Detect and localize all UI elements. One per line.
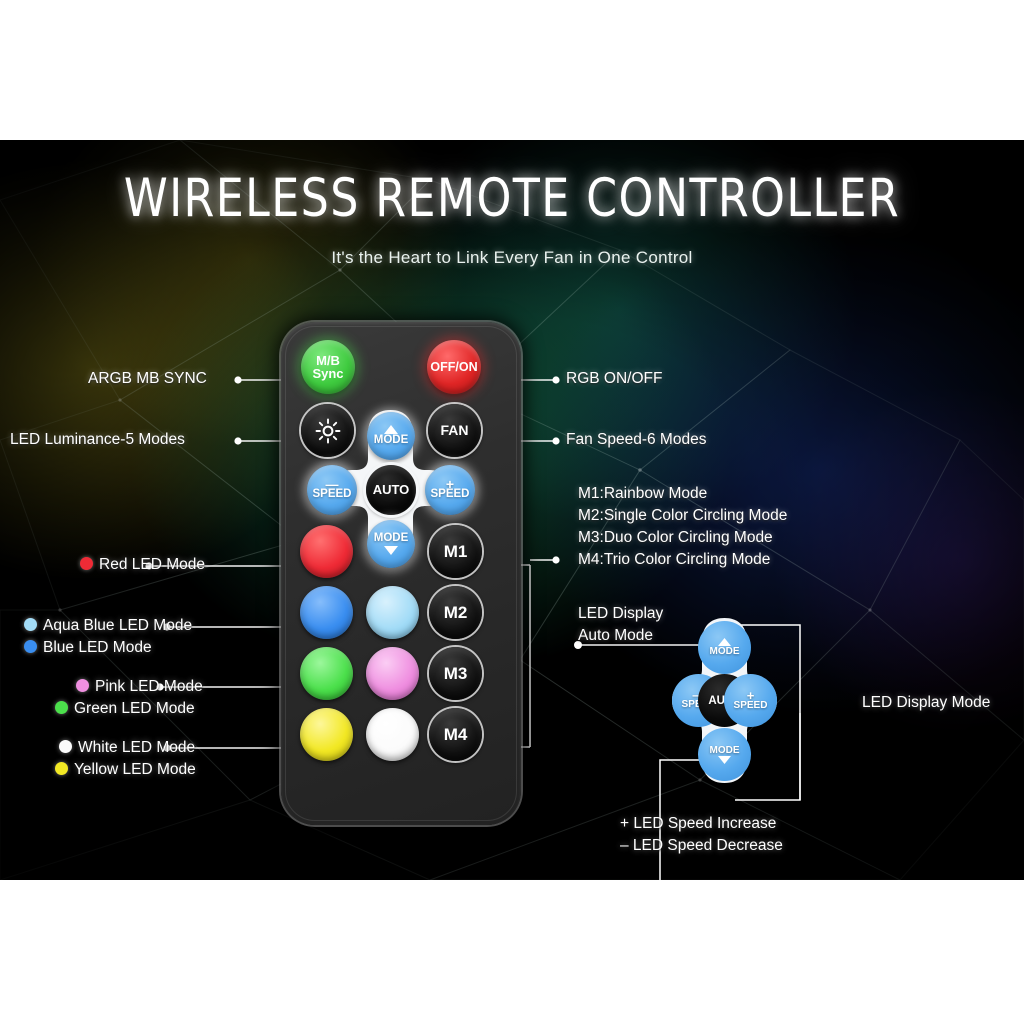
callout-green-led-mode-label: Green LED Mode [74, 700, 195, 717]
callout-argb-mb-sync: ARGB MB SYNC [88, 370, 207, 388]
mode-up-label: MODE [374, 435, 409, 447]
callout-speed-increase-label: + LED Speed Increase [620, 815, 776, 832]
speed-plus-label: SPEED [431, 489, 470, 501]
triangle-up-icon [384, 425, 398, 434]
detail-triangle-down-icon [718, 756, 731, 764]
callout-led-display-auto-mode-line2: Auto Mode [578, 627, 653, 645]
fan-label: FAN [441, 423, 469, 437]
callout-speed-decrease-label: – LED Speed Decrease [620, 837, 783, 854]
callout-aqua-blue-led-mode-label: Aqua Blue LED Mode [43, 617, 192, 634]
callout-speed-decrease: – LED Speed Decrease [620, 837, 783, 855]
callout-red-led-mode-label: Red LED Mode [99, 556, 205, 573]
dpad-detail-diagram: MODE — SPEED AUTO + SPEED MODE [672, 618, 777, 783]
detail-mode-down-label: MODE [710, 745, 740, 756]
detail-mode-up-label: MODE [710, 646, 740, 657]
callout-m1-mode-label: M1:Rainbow Mode [578, 485, 707, 502]
mode-down-button[interactable]: MODE [367, 520, 415, 568]
callout-fan-speed: Fan Speed-6 Modes [566, 431, 706, 449]
page-title: WIRELESS REMOTE CONTROLLER [36, 168, 988, 229]
fan-button[interactable]: FAN [428, 404, 481, 457]
detail-mode-down-button[interactable]: MODE [698, 728, 751, 781]
callout-red-led-mode: Red LED Mode [80, 556, 205, 574]
yellow-bullet-icon [55, 762, 68, 775]
pink-color-button[interactable] [366, 647, 419, 700]
blue-bullet-icon [24, 640, 37, 653]
callout-white-led-mode-label: White LED Mode [78, 739, 195, 756]
red-bullet-icon [80, 557, 93, 570]
callout-fan-speed-label: Fan Speed-6 Modes [566, 431, 706, 448]
yellow-color-button[interactable] [300, 708, 353, 761]
speed-minus-button[interactable]: — SPEED [307, 465, 357, 515]
m3-label: M3 [444, 665, 468, 682]
aqua-blue-bullet-icon [24, 618, 37, 631]
callout-rgb-on-off: RGB ON/OFF [566, 370, 662, 388]
callout-led-luminance-label: LED Luminance-5 Modes [10, 431, 185, 448]
callout-m4-mode: M4:Trio Color Circling Mode [578, 551, 770, 569]
callout-pink-led-mode: Pink LED Mode [76, 678, 203, 696]
detail-speed-plus-sign: + [747, 691, 755, 700]
callout-led-luminance: LED Luminance-5 Modes [10, 431, 185, 449]
red-color-button[interactable] [300, 525, 353, 578]
callout-aqua-blue-led-mode: Aqua Blue LED Mode [24, 617, 192, 635]
callout-m3-mode: M3:Duo Color Circling Mode [578, 529, 773, 547]
m4-label: M4 [444, 726, 468, 743]
callout-m2-mode: M2:Single Color Circling Mode [578, 507, 787, 525]
callout-blue-led-mode: Blue LED Mode [24, 639, 152, 657]
callout-rgb-on-off-label: RGB ON/OFF [566, 370, 662, 387]
m3-button[interactable]: M3 [429, 647, 482, 700]
auto-button[interactable]: AUTO [366, 465, 416, 515]
green-color-button[interactable] [300, 647, 353, 700]
pink-bullet-icon [76, 679, 89, 692]
m1-label: M1 [444, 543, 468, 560]
brightness-button[interactable] [301, 404, 354, 457]
mb-sync-button[interactable]: M/B Sync [301, 340, 355, 394]
detail-mode-up-button[interactable]: MODE [698, 621, 751, 674]
speed-plus-button[interactable]: + SPEED [425, 465, 475, 515]
blue-color-button[interactable] [300, 586, 353, 639]
callout-led-display-auto-mode-line1: LED Display [578, 605, 663, 623]
callout-m1-mode: M1:Rainbow Mode [578, 485, 707, 503]
m4-button[interactable]: M4 [429, 708, 482, 761]
triangle-down-icon [384, 546, 398, 555]
white-bullet-icon [59, 740, 72, 753]
callout-yellow-led-mode-label: Yellow LED Mode [74, 761, 196, 778]
rgb-power-button[interactable]: OFF/ON [427, 340, 481, 394]
aqua-blue-color-button[interactable] [366, 586, 419, 639]
callout-argb-mb-sync-label: ARGB MB SYNC [88, 370, 207, 387]
rgb-power-label: OFF/ON [430, 361, 477, 374]
mb-sync-label-line1: M/B [312, 354, 343, 367]
m1-button[interactable]: M1 [429, 525, 482, 578]
callout-white-led-mode: White LED Mode [59, 739, 195, 757]
sun-brightness-icon [315, 418, 341, 444]
infographic-page: WIRELESS REMOTE CONTROLLER It's the Hear… [0, 0, 1024, 1024]
callout-green-led-mode: Green LED Mode [55, 700, 195, 718]
callout-led-display-mode-label: LED Display Mode [862, 694, 990, 711]
mode-up-button[interactable]: MODE [367, 412, 415, 460]
callout-pink-led-mode-label: Pink LED Mode [95, 678, 203, 695]
callout-blue-led-mode-label: Blue LED Mode [43, 639, 152, 656]
callout-m2-mode-label: M2:Single Color Circling Mode [578, 507, 787, 524]
callout-m4-mode-label: M4:Trio Color Circling Mode [578, 551, 770, 568]
callout-led-display-mode: LED Display Mode [862, 694, 990, 712]
detail-triangle-up-icon [718, 638, 731, 646]
callout-yellow-led-mode: Yellow LED Mode [55, 761, 196, 779]
green-bullet-icon [55, 701, 68, 714]
mode-down-label: MODE [374, 533, 409, 545]
callout-speed-increase: + LED Speed Increase [620, 815, 776, 833]
m2-button[interactable]: M2 [429, 586, 482, 639]
detail-speed-plus-button[interactable]: + SPEED [724, 674, 777, 727]
callout-led-display-auto-label2: Auto Mode [578, 627, 653, 644]
remote-control-body: M/B Sync OFF/ON FAN [281, 322, 521, 825]
callout-led-display-auto-label1: LED Display [578, 605, 663, 622]
detail-speed-plus-label: SPEED [734, 700, 768, 711]
speed-minus-label: SPEED [313, 489, 352, 501]
mb-sync-label-line2: Sync [312, 367, 343, 380]
m2-label: M2 [444, 604, 468, 621]
page-subtitle: It's the Heart to Link Every Fan in One … [0, 248, 1024, 268]
callout-m3-mode-label: M3:Duo Color Circling Mode [578, 529, 773, 546]
auto-label: AUTO [373, 483, 410, 496]
white-color-button[interactable] [366, 708, 419, 761]
